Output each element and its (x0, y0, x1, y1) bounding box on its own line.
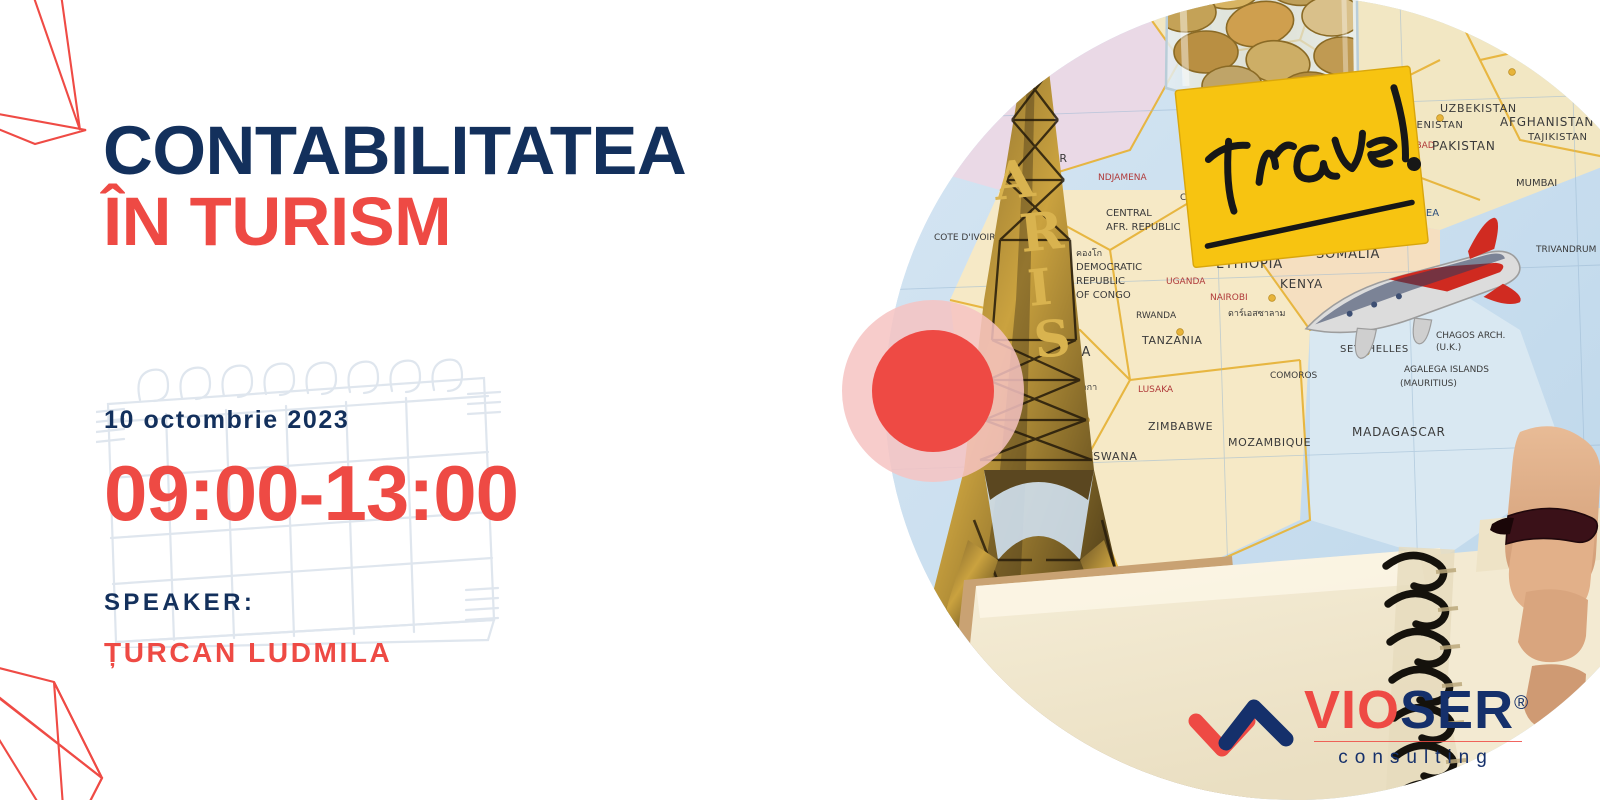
svg-text:BISHKEK: BISHKEK (1554, 55, 1589, 64)
event-datetime: 10 octombrie 2023 09:00-13:00 (104, 406, 518, 532)
svg-text:LUSAKA: LUSAKA (1138, 385, 1174, 395)
event-date: 10 octombrie 2023 (104, 406, 518, 435)
registered-mark-icon: ® (1514, 693, 1528, 714)
svg-text:ดาร์เอสซาลาม: ดาร์เอสซาลาม (1228, 307, 1285, 319)
svg-text:COTE D'IVOIRE: COTE D'IVOIRE (934, 233, 1001, 243)
svg-text:OF CONGO: OF CONGO (1076, 290, 1131, 301)
svg-text:DEMOCRATIC: DEMOCRATIC (1076, 262, 1142, 273)
svg-text:คองโก: คองโก (1076, 248, 1102, 259)
svg-text:MUMBAI: MUMBAI (1516, 178, 1557, 189)
speaker-label: SPEAKER: (104, 589, 392, 617)
svg-text:NAIROBI: NAIROBI (1210, 293, 1248, 303)
logo-tagline: consulting (1304, 747, 1528, 769)
svg-text:REPUBLIC: REPUBLIC (1076, 276, 1125, 287)
svg-text:คาซัคสถาน: คาซัคสถาน (1476, 1, 1521, 11)
svg-text:MOZAMBIQUE: MOZAMBIQUE (1228, 436, 1311, 449)
svg-text:RWANDA: RWANDA (1136, 311, 1177, 321)
svg-text:KAZAKHSTAN: KAZAKHSTAN (1474, 10, 1580, 26)
event-banner: CONTABILITATEA ÎN TURISM 10 octombrie 20… (0, 0, 1600, 800)
accent-circle-dot (872, 330, 994, 452)
logo-word: VIOSER® (1304, 683, 1528, 737)
title-line-1: CONTABILITATEA (103, 118, 686, 185)
svg-text:KENYA: KENYA (1280, 277, 1323, 291)
svg-text:CHAGOS ARCH.: CHAGOS ARCH. (1436, 331, 1505, 341)
svg-text:TRIVANDRUM: TRIVANDRUM (1535, 245, 1596, 255)
speaker-name: ȚURCAN LUDMILA (104, 637, 392, 669)
svg-text:BAMAKO: BAMAKO (940, 113, 979, 123)
svg-text:TANZANIA: TANZANIA (1141, 334, 1202, 347)
svg-text:AGALEGA ISLANDS: AGALEGA ISLANDS (1404, 365, 1489, 375)
vioser-chevron-mark-icon (1186, 687, 1298, 765)
svg-text:(U.K.): (U.K.) (1436, 343, 1461, 353)
svg-text:COMOROS: COMOROS (1270, 371, 1318, 381)
svg-text:R: R (1017, 200, 1068, 265)
vioser-logo: VIOSER® consulting (1186, 678, 1558, 774)
svg-text:NDJAMENA: NDJAMENA (1098, 173, 1147, 183)
logo-divider (1314, 741, 1522, 743)
svg-text:UZBEKISTAN: UZBEKISTAN (1440, 102, 1517, 115)
speaker-section: SPEAKER: ȚURCAN LUDMILA (104, 589, 392, 669)
svg-text:AFGHANISTAN: AFGHANISTAN (1500, 115, 1594, 129)
svg-text:PAKISTAN: PAKISTAN (1432, 139, 1496, 153)
svg-text:ZIMBABWE: ZIMBABWE (1148, 420, 1213, 433)
page-title: CONTABILITATEA ÎN TURISM (103, 118, 686, 256)
content-column: CONTABILITATEA ÎN TURISM 10 octombrie 20… (0, 0, 860, 800)
svg-text:(MAURITIUS): (MAURITIUS) (1400, 379, 1457, 389)
svg-text:AFR. REPUBLIC: AFR. REPUBLIC (1106, 222, 1181, 233)
svg-text:UGANDA: UGANDA (1166, 277, 1206, 287)
svg-text:MADAGASCAR: MADAGASCAR (1352, 425, 1446, 439)
svg-text:TAJIKISTAN: TAJIKISTAN (1527, 132, 1588, 143)
vioser-wordmark: VIOSER® consulting (1304, 683, 1528, 770)
svg-text:S: S (1031, 307, 1075, 370)
event-time: 09:00-13:00 (104, 454, 518, 532)
travel-sticky-note (1175, 66, 1429, 268)
logo-word-part2: SER (1400, 680, 1514, 740)
logo-word-part1: VIO (1304, 680, 1400, 740)
title-line-2: ÎN TURISM (103, 189, 686, 256)
svg-text:CENTRAL: CENTRAL (1106, 208, 1152, 219)
svg-text:SEYCHELLES: SEYCHELLES (1340, 344, 1409, 355)
